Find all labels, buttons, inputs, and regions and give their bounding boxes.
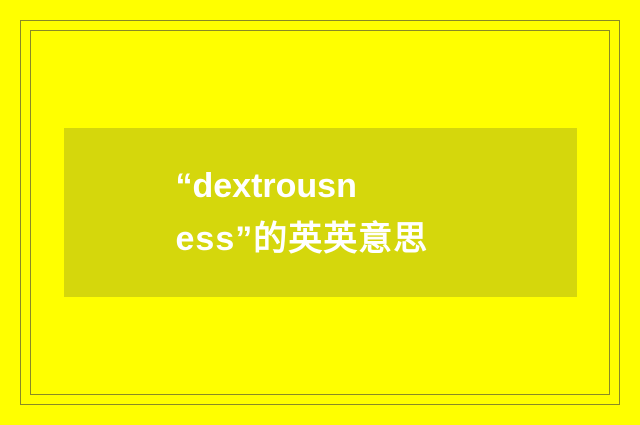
title-banner: “dextrousn ess”的英英意思 <box>64 128 577 297</box>
poster-canvas: “dextrousn ess”的英英意思 <box>0 0 640 425</box>
banner-title-line-1: “dextrousn <box>176 167 357 205</box>
banner-title-block: “dextrousn ess”的英英意思 <box>176 160 466 265</box>
banner-title-line-2: ess”的英英意思 <box>176 220 429 258</box>
